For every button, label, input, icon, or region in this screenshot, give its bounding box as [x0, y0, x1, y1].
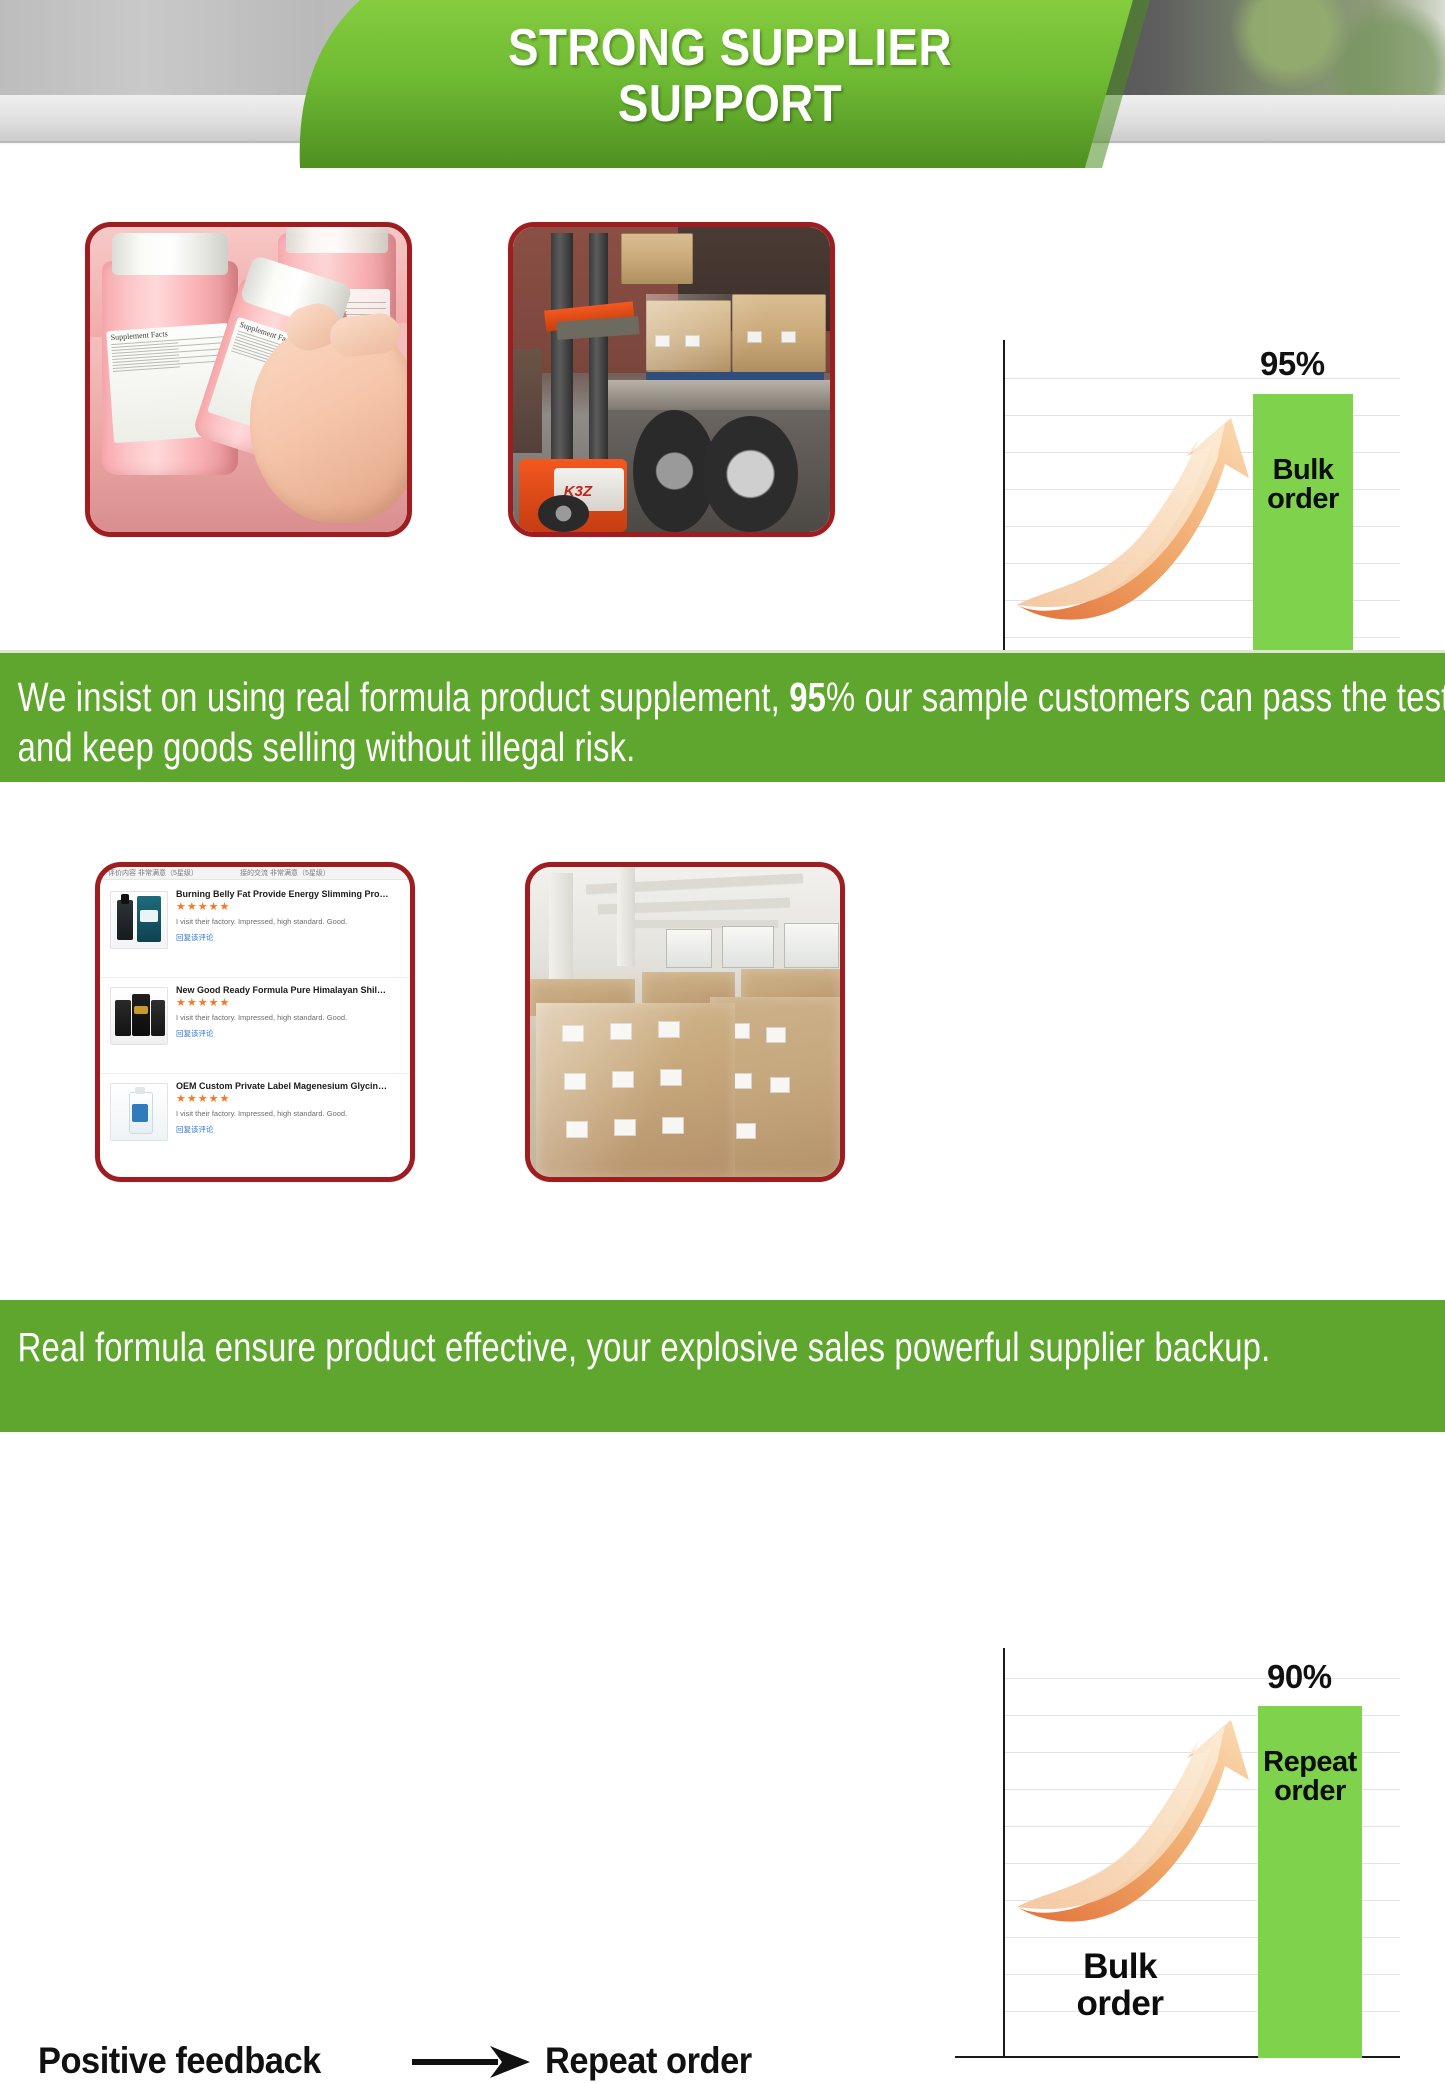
review-reply-link[interactable]: 回复该评论 — [176, 932, 402, 943]
review-header-note-2: 接的交流 非常满意（5星级） — [240, 868, 330, 878]
right-arrow-icon — [412, 2046, 530, 2083]
review-header-note-1: 评价内容 非常满意（5星级） — [108, 868, 198, 878]
baseline-label-bulk-order: Bulk order — [1015, 1948, 1225, 2022]
bar-percent-label: 90% — [1267, 1658, 1332, 1696]
review-text: I visit their factory. Impressed, high s… — [176, 917, 402, 926]
photo-review-list: 评价内容 非常满意（5星级） 接的交流 非常满意（5星级） — [95, 862, 415, 1182]
review-panel-header: 评价内容 非常满意（5星级） 接的交流 非常满意（5星级） — [100, 867, 410, 880]
list-item[interactable]: New Good Ready Formula Pure Himalayan Sh… — [100, 977, 410, 1074]
photo-supplement-bottles: Supplement Facts Supplement Facts — [85, 222, 412, 537]
review-rating-stars: ★★★★★ — [176, 998, 402, 1009]
review-thumbnail — [110, 987, 168, 1045]
bar-label-repeat-order: Repeat order — [1250, 1748, 1370, 1806]
photo-forklift-loading: K3Z — [508, 222, 835, 537]
growth-arrow-icon — [973, 1714, 1293, 1944]
review-rating-stars: ★★★★★ — [176, 902, 402, 913]
page-title-line1: STRONG SUPPLIER — [352, 20, 1109, 76]
green-bar-1-highlight: 95 — [789, 674, 826, 720]
page-title: STRONG SUPPLIER SUPPORT — [352, 20, 1109, 132]
caption-positive-feedback: Positive feedback — [38, 2040, 321, 2082]
review-title: Burning Belly Fat Provide Energy Slimmin… — [176, 889, 402, 899]
growth-arrow-icon — [973, 412, 1293, 642]
review-title: New Good Ready Formula Pure Himalayan Sh… — [176, 985, 402, 995]
caption-repeat-order: Repeat order — [545, 2040, 752, 2082]
review-thumbnail — [110, 1083, 168, 1141]
review-reply-link[interactable]: 回复该评论 — [176, 1124, 402, 1135]
green-message-bar-2: Real formula ensure product effective, y… — [0, 1300, 1445, 1432]
review-text: I visit their factory. Impressed, high s… — [176, 1109, 402, 1118]
bar-percent-label: 95% — [1260, 345, 1325, 383]
review-thumbnail — [110, 891, 168, 949]
green-message-bar-1: We insist on using real formula product … — [0, 650, 1445, 782]
row-sample-to-bulk: Supplement Facts Supplement Facts — [0, 168, 1445, 645]
page-title-line2: SUPPORT — [352, 76, 1109, 132]
review-text: I visit their factory. Impressed, high s… — [176, 1013, 402, 1022]
review-title: OEM Custom Private Label Magenesium Glyc… — [176, 1081, 402, 1091]
bar-label-bulk-order: Bulk order — [1248, 456, 1358, 514]
header-banner: STRONG SUPPLIER SUPPORT — [0, 0, 1445, 168]
row-feedback-to-repeat: 评价内容 非常满意（5星级） 接的交流 非常满意（5星级） — [0, 818, 1445, 1295]
green-bar-1-text-before: We insist on using real formula product … — [18, 674, 790, 720]
footer-whitespace — [0, 1432, 1445, 1508]
list-item[interactable]: Burning Belly Fat Provide Energy Slimmin… — [100, 881, 410, 978]
green-bar-2-text: Real formula ensure product effective, y… — [0, 1300, 1445, 1372]
chart-bulk-to-repeat: 90% Repeat order Bulk order — [955, 1648, 1400, 2080]
photo-warehouse-pallets — [525, 862, 845, 1182]
review-reply-link[interactable]: 回复该评论 — [176, 1028, 402, 1039]
list-item[interactable]: OEM Custom Private Label Magenesium Glyc… — [100, 1073, 410, 1169]
review-rating-stars: ★★★★★ — [176, 1094, 402, 1105]
